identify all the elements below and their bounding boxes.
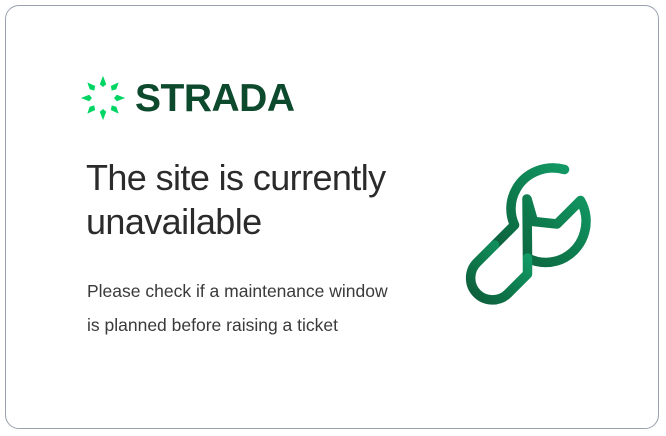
brand-lockup: STRADA bbox=[80, 74, 295, 122]
wrench-icon bbox=[458, 154, 620, 318]
page-description: Please check if a maintenance window is … bbox=[87, 274, 397, 342]
brand-wordmark: STRADA bbox=[135, 79, 295, 118]
status-card: STRADA The site is currently unavailable… bbox=[5, 5, 659, 429]
strada-starburst-icon bbox=[80, 75, 126, 121]
maintenance-page: STRADA The site is currently unavailable… bbox=[0, 0, 666, 436]
page-title: The site is currently unavailable bbox=[86, 156, 416, 244]
